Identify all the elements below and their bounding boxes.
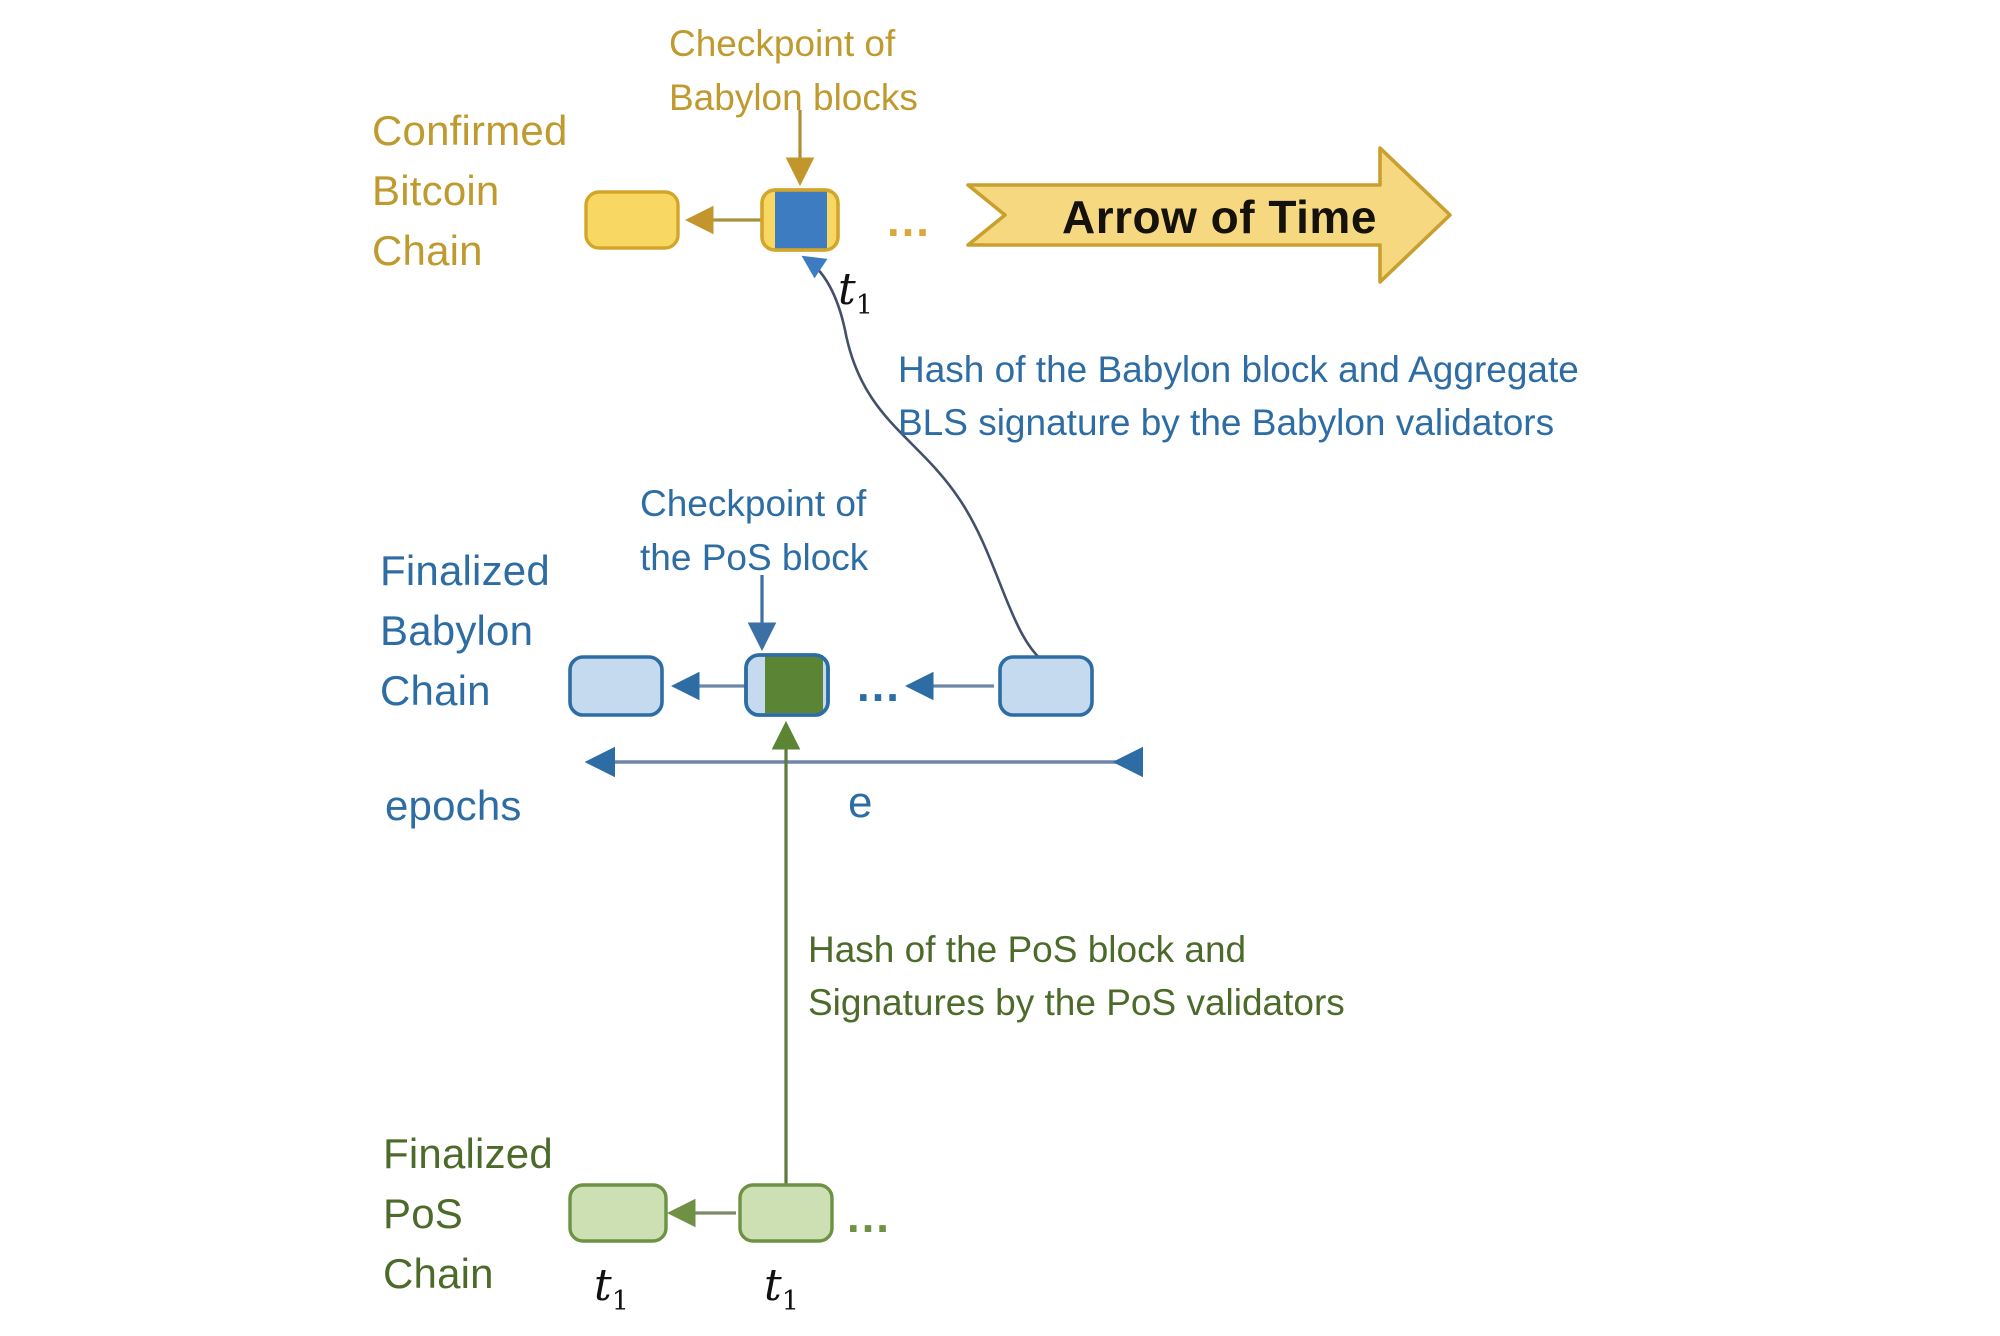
babylon-caption-line1: Checkpoint of	[640, 480, 866, 529]
bitcoin-block-left	[586, 192, 678, 248]
pos-row-label-line1: Finalized	[383, 1128, 553, 1181]
babylon-note-line2: BLS signature by the Babylon validators	[898, 398, 1554, 448]
diagram-vector-layer	[0, 0, 2000, 1336]
pos-time-marker-right: t1	[764, 1258, 799, 1319]
pos-block-left	[570, 1185, 666, 1241]
bitcoin-row-label-line1: Confirmed	[372, 105, 568, 158]
pos-row-label-line2: PoS	[383, 1188, 463, 1241]
babylon-checkpoint-fill	[765, 650, 823, 720]
babylon-ellipsis: …	[855, 657, 904, 715]
pos-time-marker-right-sub: 1	[782, 1286, 799, 1317]
pos-row-label-line3: Chain	[383, 1248, 494, 1301]
bitcoin-time-marker-base: t	[838, 264, 856, 315]
pos-block-right	[740, 1185, 832, 1241]
pos-ellipsis: …	[845, 1188, 894, 1246]
bitcoin-ellipsis: …	[885, 192, 934, 250]
diagram-canvas: Confirmed Bitcoin Chain Checkpoint of Ba…	[0, 0, 2000, 1336]
babylon-row-label-line2: Babylon	[380, 605, 533, 658]
bitcoin-checkpoint-fill	[775, 186, 827, 254]
pos-time-marker-left-sub: 1	[612, 1286, 629, 1317]
babylon-row-label-line3: Chain	[380, 665, 491, 718]
bitcoin-time-marker-sub: 1	[856, 290, 873, 321]
pos-note-line2: Signatures by the PoS validators	[808, 978, 1345, 1028]
bitcoin-caption-line2: Babylon blocks	[669, 74, 918, 123]
babylon-block-right	[1000, 657, 1092, 715]
epoch-name-label: e	[848, 775, 872, 830]
babylon-caption-line2: the PoS block	[640, 534, 868, 583]
bitcoin-caption-line1: Checkpoint of	[669, 20, 895, 69]
bitcoin-row-label-line2: Bitcoin	[372, 165, 499, 218]
babylon-block-left	[570, 657, 662, 715]
pos-time-marker-left: t1	[594, 1258, 629, 1319]
pos-note-line1: Hash of the PoS block and	[808, 925, 1246, 975]
bitcoin-row-label-line3: Chain	[372, 225, 483, 278]
pos-time-marker-left-base: t	[594, 1260, 612, 1311]
bitcoin-time-marker: t1	[838, 262, 873, 323]
babylon-note-line1: Hash of the Babylon block and Aggregate	[898, 345, 1579, 395]
babylon-row-label-line1: Finalized	[380, 545, 550, 598]
epochs-label: epochs	[385, 780, 522, 833]
pos-time-marker-right-base: t	[764, 1260, 782, 1311]
arrow-of-time-label: Arrow of Time	[1062, 190, 1377, 244]
